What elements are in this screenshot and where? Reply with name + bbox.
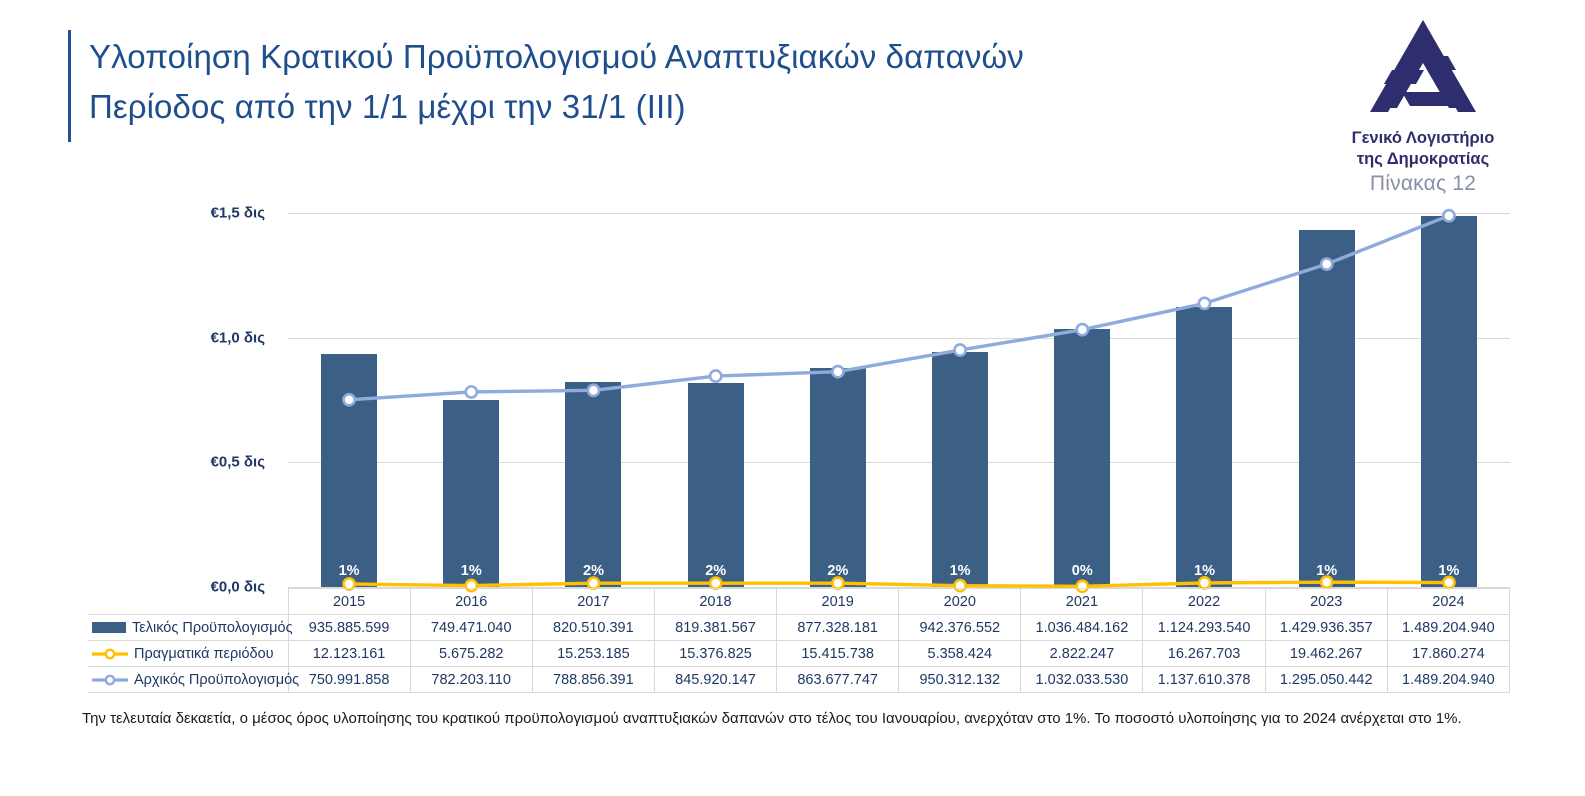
legend-label: Τελικός Προϋπολογισμός [132,620,293,636]
table-cell-value: 2.822.247 [1021,641,1143,667]
legend-row-header: Πραγματικά περιόδου [88,641,288,667]
data-table: 2015201620172018201920202021202220232024… [88,588,1510,693]
title-line-2: Περίοδος από την 1/1 μέχρι την 31/1 (ΙΙΙ… [89,82,1024,132]
table-cell-value: 15.253.185 [532,641,654,667]
table-cell-value: 1.429.936.357 [1265,615,1387,641]
line-marker[interactable]: 2022: 16.267.703 [1199,577,1210,588]
table-year-header: 2020 [899,589,1021,615]
table-cell-value: 1.124.293.540 [1143,615,1265,641]
table-cell-value: 749.471.040 [410,615,532,641]
table-year-header: 2017 [532,589,654,615]
table-cell-value: 12.123.161 [288,641,410,667]
legend-bar-swatch-icon [92,622,126,633]
slide-root: Υλοποίηση Κρατικού Προϋπολογισμού Αναπτυ… [0,0,1585,796]
table-year-header: 2023 [1265,589,1387,615]
table-cell-value: 17.860.274 [1387,641,1509,667]
legend-line-marker-icon [92,648,128,660]
line-path [349,582,1449,586]
table-cell-value: 935.885.599 [288,615,410,641]
table-year-header: 2019 [777,589,899,615]
table-cell-value: 1.295.050.442 [1265,667,1387,693]
table-row: Αρχικός Προϋπολογισμός750.991.858782.203… [88,667,1510,693]
table-year-header: 2015 [288,589,410,615]
table-cell-value: 5.358.424 [899,641,1021,667]
line-marker[interactable]: 2023: 19.462.267 [1321,577,1332,588]
line-series-layer: 2015: 12.123.1612016: 5.675.2822017: 15.… [288,213,1510,587]
general-accounting-office-logo-icon [1362,18,1484,122]
table-cell-value: 819.381.567 [654,615,776,641]
line-marker[interactable]: 2017: 788.856.391 [588,385,599,396]
y-axis-tick-label: €1,0 δις [145,329,265,346]
title-line-1: Υλοποίηση Κρατικού Προϋπολογισμού Αναπτυ… [89,32,1024,82]
legend-line-marker-icon [92,674,128,686]
footnote-text: Την τελευταία δεκαετία, ο μέσος όρος υλο… [82,706,1497,731]
table-cell-value: 1.032.033.530 [1021,667,1143,693]
table-row: Πραγματικά περιόδου12.123.1615.675.28215… [88,641,1510,667]
table-row: Τελικός Προϋπολογισμός935.885.599749.471… [88,615,1510,641]
line-series-svg: 2015: 12.123.1612016: 5.675.2822017: 15.… [288,213,1510,587]
table-cell-value: 788.856.391 [532,667,654,693]
table-cell-value: 782.203.110 [410,667,532,693]
table-number-label: Πίνακας 12 [1370,172,1476,196]
y-axis-tick-label: €1,5 δις [145,205,265,222]
table-cell-value: 820.510.391 [532,615,654,641]
legend-label: Αρχικός Προϋπολογισμός [134,672,299,688]
table-year-header: 2022 [1143,589,1265,615]
table-row-years: 2015201620172018201920202021202220232024 [88,589,1510,615]
line-marker[interactable]: 2022: 1.137.610.378 [1199,298,1210,309]
line-marker[interactable]: 2021: 1.032.033.530 [1077,324,1088,335]
chart-plot-area: €0,0 δις€0,5 δις€1,0 δις€1,5 δις 1%1%2%2… [288,213,1510,587]
table-cell-value: 16.267.703 [1143,641,1265,667]
line-marker[interactable]: 2015: 750.991.858 [344,394,355,405]
table-cell-value: 5.675.282 [410,641,532,667]
table-cell-value: 942.376.552 [899,615,1021,641]
table-cell-value: 15.415.738 [777,641,899,667]
logo-text-line-2: της Δημοκρατίας [1352,149,1495,170]
table-cell-value: 950.312.132 [899,667,1021,693]
legend-row-header: Αρχικός Προϋπολογισμός [88,667,288,693]
title-accent-bar [68,30,71,142]
logo-text-line-1: Γενικό Λογιστήριο [1352,128,1495,149]
table-cell-value: 877.328.181 [777,615,899,641]
line-marker[interactable]: 2024: 17.860.274 [1443,577,1454,588]
table-year-header: 2016 [410,589,532,615]
table-cell-value: 1.036.484.162 [1021,615,1143,641]
line-marker[interactable]: 2020: 950.312.132 [955,344,966,355]
table-cell-value: 863.677.747 [777,667,899,693]
line-path [349,216,1449,400]
table-year-header: 2024 [1387,589,1509,615]
table-cell-value: 1.489.204.940 [1387,667,1509,693]
table-corner-cell [88,589,288,615]
line-marker[interactable]: 2016: 782.203.110 [466,386,477,397]
page-title: Υλοποίηση Κρατικού Προϋπολογισμού Αναπτυ… [68,30,1298,148]
table-year-header: 2018 [654,589,776,615]
line-marker[interactable]: 2024: 1.489.204.940 [1443,210,1454,221]
y-axis-tick-label: €0,5 δις [145,454,265,471]
logo-block: Γενικό Λογιστήριο της Δημοκρατίας Πίνακα… [1323,18,1523,196]
table-cell-value: 845.920.147 [654,667,776,693]
legend-label: Πραγματικά περιόδου [134,646,274,662]
table-cell-value: 1.489.204.940 [1387,615,1509,641]
table-cell-value: 15.376.825 [654,641,776,667]
table-cell-value: 1.137.610.378 [1143,667,1265,693]
table-year-header: 2021 [1021,589,1143,615]
table-cell-value: 19.462.267 [1265,641,1387,667]
legend-row-header: Τελικός Προϋπολογισμός [88,615,288,641]
logo-text: Γενικό Λογιστήριο της Δημοκρατίας [1352,128,1495,170]
line-marker[interactable]: 2018: 845.920.147 [710,370,721,381]
table-cell-value: 750.991.858 [288,667,410,693]
line-marker[interactable]: 2019: 863.677.747 [832,366,843,377]
line-marker[interactable]: 2023: 1.295.050.442 [1321,259,1332,270]
